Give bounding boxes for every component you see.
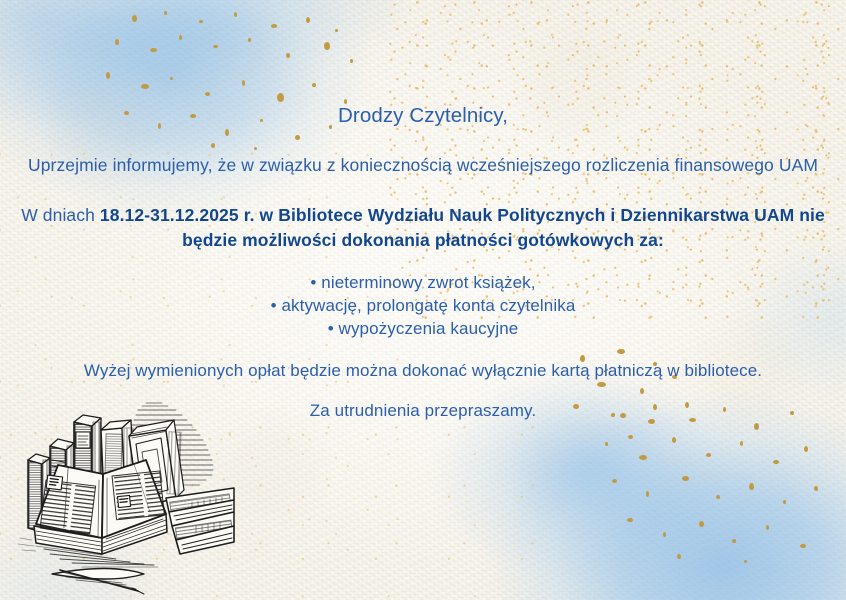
fee-list: • nieterminowy zwrot książek, • aktywacj… [0, 271, 846, 340]
card-payment-note: Wyżej wymienionych opłat będzie można do… [0, 361, 846, 381]
list-item: • nieterminowy zwrot książek, [0, 271, 846, 294]
poster-content: Drodzy Czytelnicy, Uprzejmie informujemy… [0, 0, 846, 600]
apology-note: Za utrudnienia przepraszamy. [0, 401, 846, 421]
poster-canvas: Drodzy Czytelnicy, Uprzejmie informujemy… [0, 0, 846, 600]
list-item: • wypożyczenia kaucyjne [0, 317, 846, 340]
intro-paragraph: Uprzejmie informujemy, że w związku z ko… [0, 155, 846, 176]
list-item: • aktywację, prolongatę konta czytelnika [0, 294, 846, 317]
notice-bold-text: 18.12-31.12.2025 r. w Bibliotece Wydział… [100, 205, 825, 250]
notice-paragraph: W dniach 18.12-31.12.2025 r. w Bibliotec… [0, 203, 846, 253]
page-title: Drodzy Czytelnicy, [0, 104, 846, 128]
notice-prefix: W dniach [21, 205, 100, 225]
